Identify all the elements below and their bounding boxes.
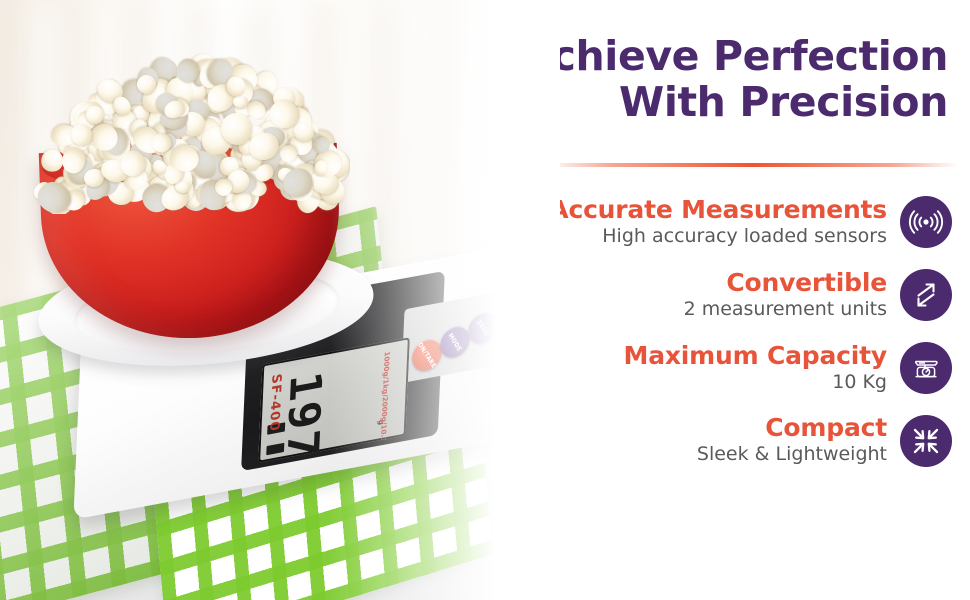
photo-fade-to-white — [330, 0, 560, 600]
feature-title: Accurate Measurements — [549, 196, 887, 224]
kitchen-scale-icon — [900, 342, 952, 394]
feature-subtitle: 10 Kg — [624, 371, 887, 395]
feature-text: Maximum Capacity 10 Kg — [624, 342, 887, 395]
popcorn-kernel — [314, 160, 327, 177]
product-photo: SF-400 197 g 1000g/1kg/2000g/10.1oz ON/T… — [0, 0, 560, 600]
compress-arrows-icon — [900, 415, 952, 467]
feature-title: Compact — [697, 414, 887, 442]
feature-text: Convertible 2 measurement units — [684, 269, 887, 322]
feature-text: Accurate Measurements High accuracy load… — [549, 196, 887, 249]
popcorn-pile — [30, 52, 350, 214]
feature-text: Compact Sleek & Lightweight — [697, 414, 887, 467]
feature-subtitle: 2 measurement units — [684, 298, 887, 322]
feature-title: Convertible — [684, 269, 887, 297]
feature-subtitle: Sleek & Lightweight — [697, 443, 887, 467]
product-feature-banner: SF-400 197 g 1000g/1kg/2000g/10.1oz ON/T… — [0, 0, 970, 600]
headline-divider — [546, 163, 958, 167]
convert-arrows-icon — [900, 269, 952, 321]
sensor-waves-icon — [900, 196, 952, 248]
scale-weight-value: 197 — [277, 368, 331, 463]
feature-title: Maximum Capacity — [624, 342, 887, 370]
feature-subtitle: High accuracy loaded sensors — [549, 225, 887, 249]
